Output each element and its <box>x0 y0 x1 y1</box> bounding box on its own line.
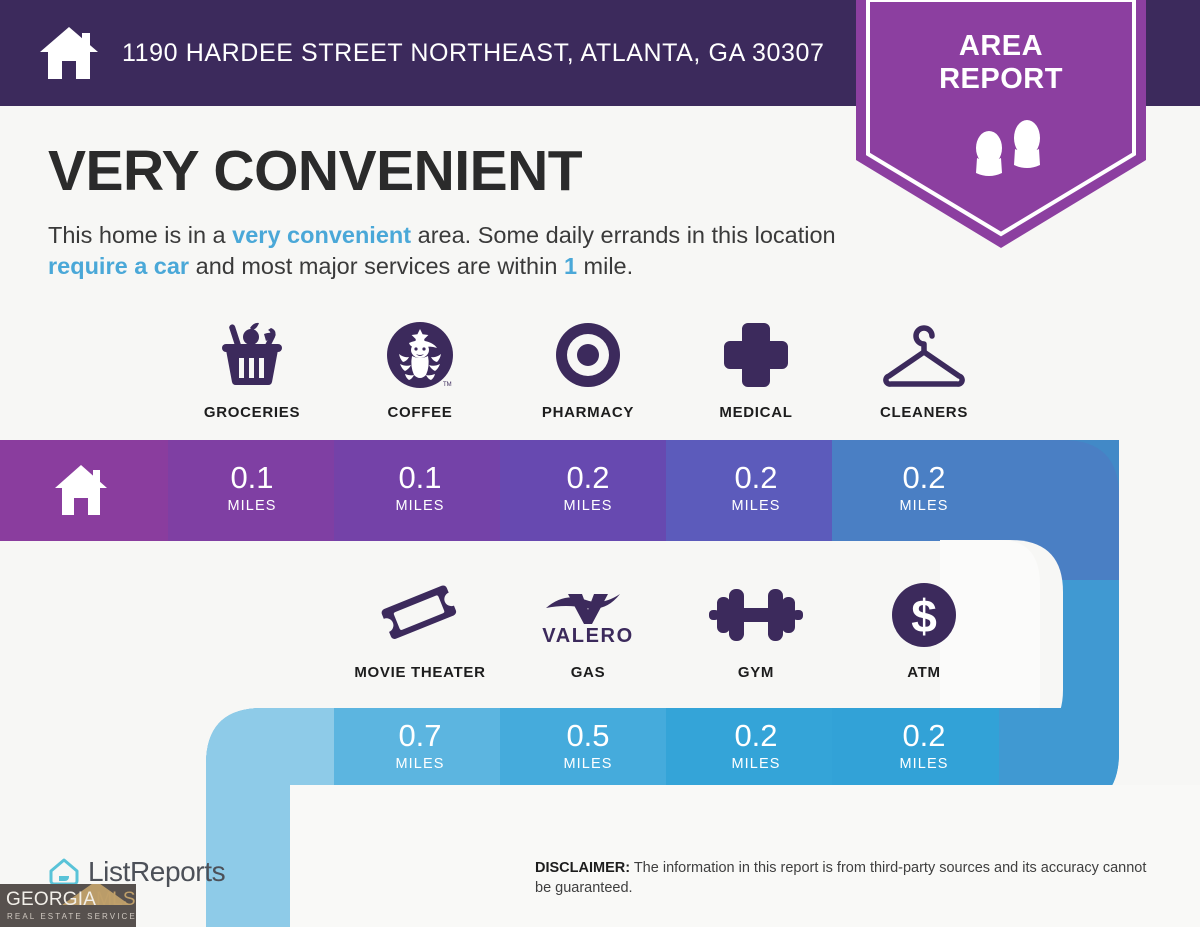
distance-value: 0.2 <box>902 462 945 493</box>
desc-text-3: and most major services are within <box>189 253 564 279</box>
distance-row-1: 0.1 MILES 0.1 MILES 0.2 MILES 0.2 MILES … <box>0 462 1200 514</box>
service-icon-row-2: MOVIE THEATER VALERO GAS <box>0 578 1200 681</box>
desc-text-1: This home is in a <box>48 222 232 248</box>
distance-unit: MILES <box>395 498 444 514</box>
distance-groceries: 0.1 MILES <box>168 462 336 514</box>
dollar-circle-icon: $ <box>889 578 959 652</box>
service-gas: VALERO GAS <box>504 578 672 681</box>
distance-unit: MILES <box>731 756 780 772</box>
home-icon <box>38 25 100 81</box>
badge-text: AREA REPORT <box>856 30 1146 96</box>
service-label: ATM <box>907 664 940 681</box>
distance-unit: MILES <box>731 498 780 514</box>
desc-highlight-1: very convenient <box>232 222 411 248</box>
service-gym: GYM <box>672 578 840 681</box>
service-label: GAS <box>571 664 606 681</box>
distance-value: 0.1 <box>230 462 273 493</box>
distance-gym: 0.2 MILES <box>672 720 840 772</box>
distance-unit: MILES <box>563 498 612 514</box>
distance-movie-theater: 0.7 MILES <box>336 720 504 772</box>
distance-medical: 0.2 MILES <box>672 462 840 514</box>
service-label: PHARMACY <box>542 404 634 421</box>
distance-cleaners: 0.2 MILES <box>840 462 1008 514</box>
service-atm: $ ATM <box>840 578 1008 681</box>
service-cleaners: CLEANERS <box>840 318 1008 421</box>
georgia-mls-badge: GEORGIAMLS REAL ESTATE SERVICES <box>0 884 136 927</box>
service-icon-row-1: GROCERIES <box>0 318 1200 421</box>
distance-value: 0.2 <box>734 720 777 751</box>
distance-value: 0.7 <box>398 720 441 751</box>
service-label: MOVIE THEATER <box>354 664 485 681</box>
service-coffee: TM COFFEE <box>336 318 504 421</box>
desc-highlight-3: 1 <box>564 253 577 279</box>
home-icon <box>53 463 109 517</box>
starbucks-icon: TM <box>385 318 455 392</box>
service-label: GROCERIES <box>204 404 300 421</box>
svg-text:TM: TM <box>443 382 452 388</box>
page-description: This home is in a very convenient area. … <box>48 220 848 283</box>
service-medical: MEDICAL <box>672 318 840 421</box>
desc-text-4: mile. <box>577 253 633 279</box>
distance-unit: MILES <box>563 756 612 772</box>
distance-unit: MILES <box>899 756 948 772</box>
movie-ticket-icon <box>381 578 459 652</box>
disclaimer-label: DISCLAIMER: <box>535 860 630 876</box>
svg-text:$: $ <box>911 590 937 642</box>
target-bullseye-icon <box>553 318 623 392</box>
title-block: VERY CONVENIENT This home is in a very c… <box>48 143 848 283</box>
badge-line-2: REPORT <box>856 63 1146 96</box>
distance-unit: MILES <box>899 498 948 514</box>
dumbbell-icon <box>709 578 803 652</box>
service-label: GYM <box>738 664 774 681</box>
distance-gas: 0.5 MILES <box>504 720 672 772</box>
desc-text-2: area. Some daily errands in this locatio… <box>411 222 836 248</box>
clothes-hanger-icon <box>879 318 969 392</box>
mls-name-part2: MLS <box>96 889 136 910</box>
distance-pharmacy: 0.2 MILES <box>504 462 672 514</box>
distance-value: 0.5 <box>566 720 609 751</box>
service-groceries: GROCERIES <box>168 318 336 421</box>
service-pharmacy: PHARMACY <box>504 318 672 421</box>
svg-text:VALERO: VALERO <box>542 625 633 647</box>
distance-row-2: 0.7 MILES 0.5 MILES 0.2 MILES 0.2 MILES <box>0 720 1200 772</box>
distance-value: 0.2 <box>566 462 609 493</box>
grocery-basket-icon <box>214 318 290 392</box>
distance-value: 0.1 <box>398 462 441 493</box>
disclaimer: DISCLAIMER: The information in this repo… <box>535 858 1160 899</box>
distance-value: 0.2 <box>734 462 777 493</box>
page-title: VERY CONVENIENT <box>48 143 848 200</box>
header-address: 1190 HARDEE STREET NORTHEAST, ATLANTA, G… <box>122 39 825 68</box>
service-label: MEDICAL <box>719 404 792 421</box>
valero-icon: VALERO <box>538 578 638 652</box>
mls-badge-subtitle: REAL ESTATE SERVICES <box>7 912 136 921</box>
distance-unit: MILES <box>227 498 276 514</box>
area-report-infographic: 1190 HARDEE STREET NORTHEAST, ATLANTA, G… <box>0 0 1200 927</box>
distance-value: 0.2 <box>902 720 945 751</box>
desc-highlight-2: require a car <box>48 253 189 279</box>
service-label: COFFEE <box>387 404 452 421</box>
mls-name-part1: GEORGIA <box>6 889 96 910</box>
area-report-badge: AREA REPORT <box>856 0 1146 248</box>
distance-atm: 0.2 MILES <box>840 720 1008 772</box>
service-label: CLEANERS <box>880 404 968 421</box>
service-movie-theater: MOVIE THEATER <box>336 578 504 681</box>
distance-unit: MILES <box>395 756 444 772</box>
mls-badge-name: GEORGIAMLS <box>6 889 136 911</box>
medical-cross-icon <box>722 318 790 392</box>
badge-line-1: AREA <box>959 30 1043 62</box>
distance-coffee: 0.1 MILES <box>336 462 504 514</box>
